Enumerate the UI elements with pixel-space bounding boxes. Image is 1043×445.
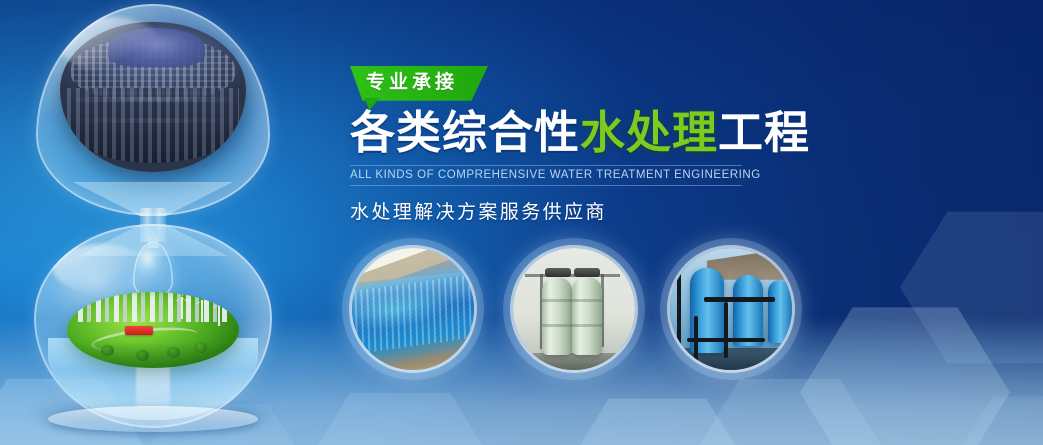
photo-blue-pressure-vessels[interactable] bbox=[670, 248, 792, 370]
red-bus-icon bbox=[125, 326, 153, 335]
pool-photo bbox=[352, 248, 474, 370]
hourglass-bottom-bulb bbox=[34, 224, 272, 428]
hourglass-base bbox=[48, 406, 258, 432]
city-blue-cap bbox=[108, 28, 205, 67]
badge-label: 专业承接 bbox=[366, 72, 458, 93]
green-island-icon bbox=[67, 292, 239, 368]
headline-part-2: 工程 bbox=[718, 107, 810, 158]
english-subtitle-rule: ALL KINDS OF COMPREHENSIVE WATER TREATME… bbox=[350, 165, 742, 186]
page-title: 各类综合性水处理工程 bbox=[350, 109, 750, 157]
headline-part-1: 各类综合性 bbox=[350, 107, 580, 158]
hourglass-illustration bbox=[14, 0, 292, 445]
photo-water-treatment-pool[interactable] bbox=[352, 248, 474, 370]
tagline: 水处理解决方案服务供应商 bbox=[350, 197, 750, 224]
headline-part-green: 水处理 bbox=[580, 107, 718, 158]
tanks-photo bbox=[513, 248, 635, 370]
photo-circle-group bbox=[352, 248, 802, 378]
english-subtitle: ALL KINDS OF COMPREHENSIVE WATER TREATME… bbox=[350, 169, 742, 181]
grey-city-icon bbox=[60, 22, 246, 172]
photo-twin-filtration-tanks[interactable] bbox=[513, 248, 635, 370]
hero-banner: 专业承接 各类综合性水处理工程 ALL KINDS OF COMPREHENSI… bbox=[0, 0, 1043, 445]
badge-professional: 专业承接 bbox=[350, 66, 488, 101]
vessels-photo bbox=[670, 248, 792, 370]
banner-copy: 专业承接 各类综合性水处理工程 ALL KINDS OF COMPREHENSI… bbox=[350, 66, 750, 224]
